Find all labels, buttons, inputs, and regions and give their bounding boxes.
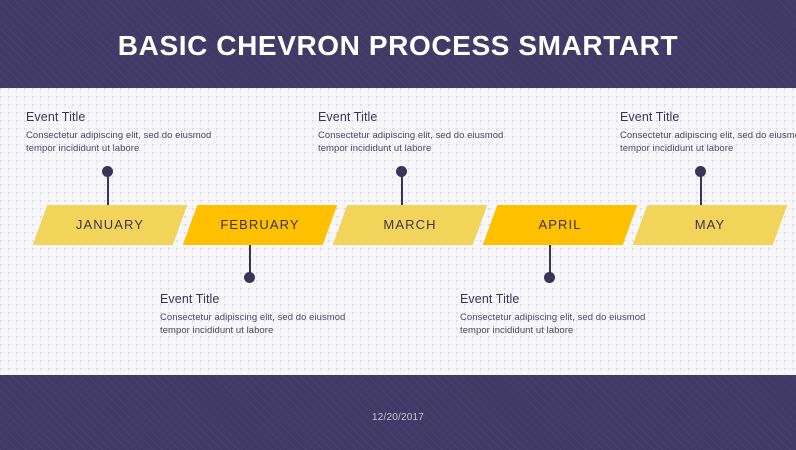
event-body: Consectetur adipiscing elit, sed do eius… [460, 311, 650, 337]
event-block-february: Event Title Consectetur adipiscing elit,… [160, 292, 350, 337]
slide-canvas: BASIC CHEVRON PROCESS SMARTART JANUARY F… [0, 0, 796, 450]
timeline-stem-5 [700, 171, 702, 207]
timeline-stem-1 [107, 171, 109, 207]
event-block-march: Event Title Consectetur adipiscing elit,… [318, 110, 508, 155]
event-title: Event Title [620, 110, 796, 124]
timeline-stem-2 [249, 243, 251, 275]
event-body: Consectetur adipiscing elit, sed do eius… [318, 129, 508, 155]
chevron-january[interactable]: JANUARY [33, 205, 188, 245]
chevron-label-january: JANUARY [40, 205, 180, 245]
timeline-marker-dot-4 [544, 272, 555, 283]
event-body: Consectetur adipiscing elit, sed do eius… [26, 129, 216, 155]
chevron-label-march: MARCH [340, 205, 480, 245]
event-title: Event Title [160, 292, 350, 306]
page-title: BASIC CHEVRON PROCESS SMARTART [0, 30, 796, 62]
chevron-april[interactable]: APRIL [483, 205, 638, 245]
event-body: Consectetur adipiscing elit, sed do eius… [620, 129, 796, 155]
event-block-january: Event Title Consectetur adipiscing elit,… [26, 110, 216, 155]
chevron-label-april: APRIL [490, 205, 630, 245]
event-title: Event Title [26, 110, 216, 124]
slide-date: 12/20/2017 [0, 412, 796, 423]
event-title: Event Title [460, 292, 650, 306]
event-block-may: Event Title Consectetur adipiscing elit,… [620, 110, 796, 155]
timeline-marker-dot-2 [244, 272, 255, 283]
timeline-stem-4 [549, 243, 551, 275]
event-block-april: Event Title Consectetur adipiscing elit,… [460, 292, 650, 337]
event-title: Event Title [318, 110, 508, 124]
chevron-label-may: MAY [640, 205, 780, 245]
chevron-label-february: FEBRUARY [190, 205, 330, 245]
chevron-march[interactable]: MARCH [333, 205, 488, 245]
timeline-stem-3 [401, 171, 403, 207]
chevron-timeline: JANUARY FEBRUARY MARCH APRIL MAY [0, 205, 796, 245]
chevron-may[interactable]: MAY [633, 205, 788, 245]
event-body: Consectetur adipiscing elit, sed do eius… [160, 311, 350, 337]
chevron-february[interactable]: FEBRUARY [183, 205, 338, 245]
